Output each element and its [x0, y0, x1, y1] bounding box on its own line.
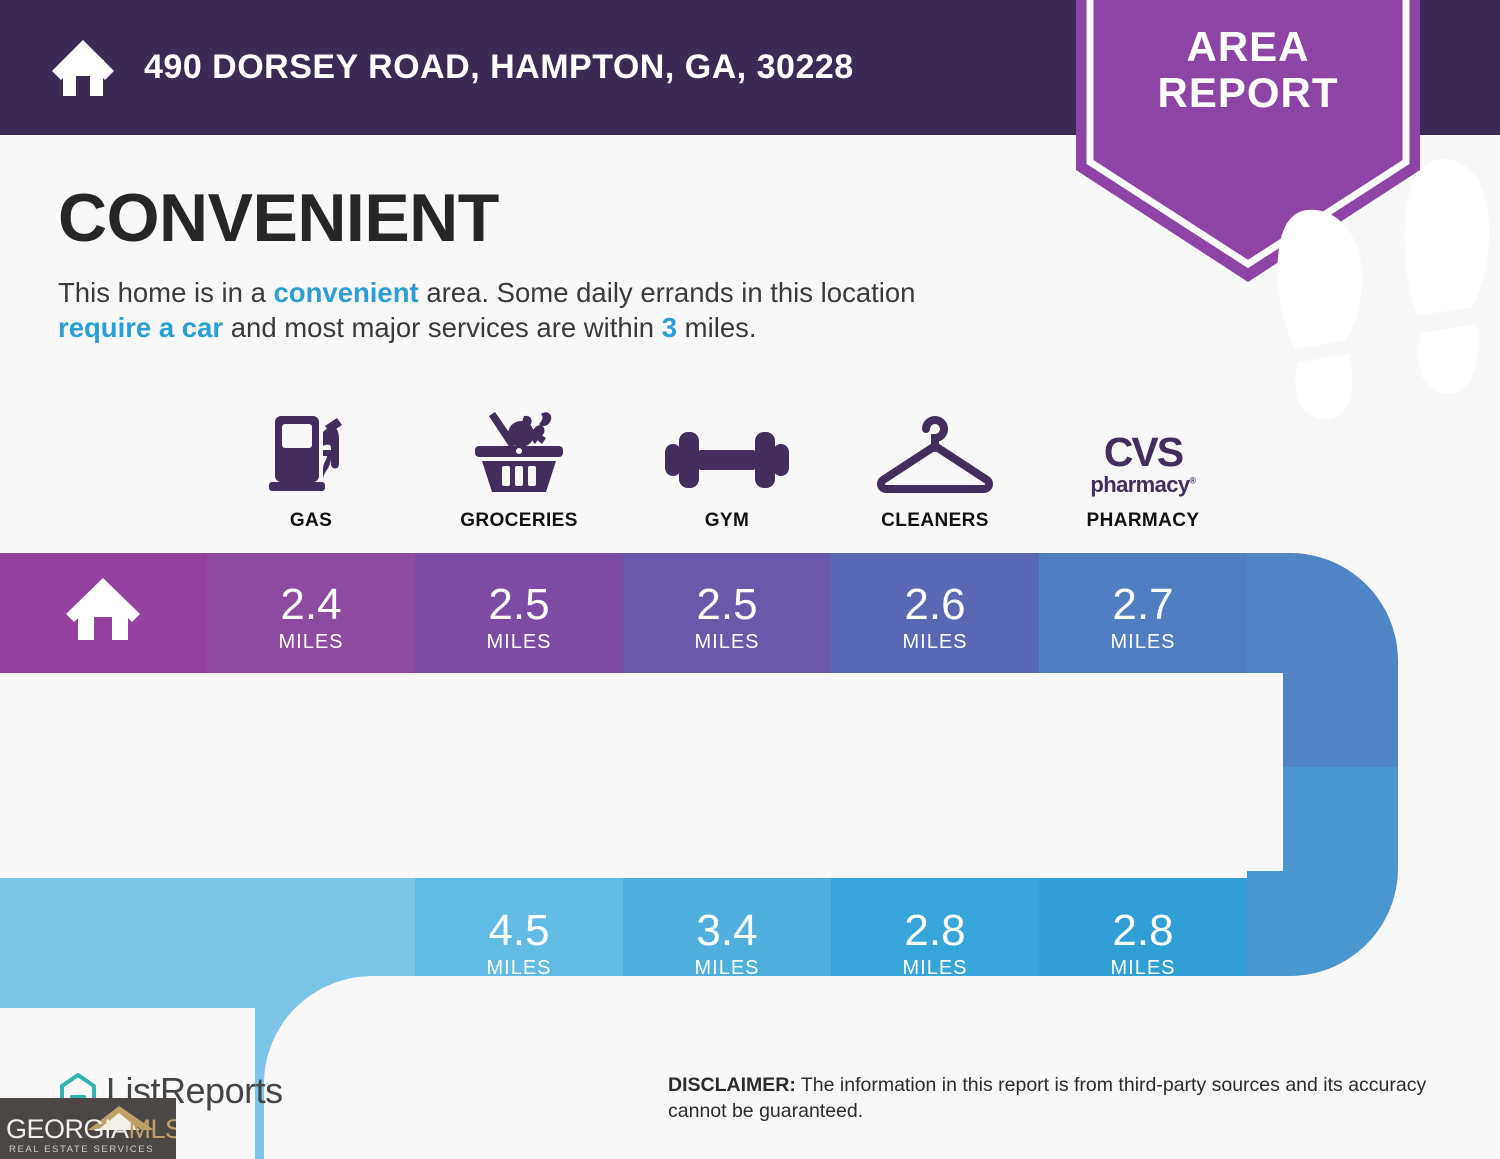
segment-gym — [623, 548, 831, 673]
area-report-badge: AREA REPORT — [1076, 0, 1420, 282]
segment-atm — [1039, 878, 1247, 1008]
mls-secondary: MLS — [129, 1114, 176, 1144]
mls-tagline: REAL ESTATE SERVICES — [9, 1144, 154, 1155]
summary-part-4: miles. — [677, 312, 756, 343]
georgia-mls-logo: GEORGIAMLS REAL ESTATE SERVICES — [0, 1098, 176, 1159]
page-title: CONVENIENT — [58, 182, 499, 254]
amenity-label: PHARMACY — [1087, 510, 1200, 532]
header-content: 490 DORSEY ROAD, HAMPTON, GA, 30228 — [50, 0, 854, 135]
segment-movie — [415, 878, 623, 1008]
summary-text: This home is in a convenient area. Some … — [58, 275, 998, 345]
amenity-label: GAS — [290, 510, 332, 532]
amenity-gym: GYM — [623, 404, 831, 532]
mls-wordmark: GEORGIAMLS — [6, 1116, 176, 1143]
home-icon — [50, 38, 116, 98]
gas-pump-icon — [265, 404, 357, 496]
summary-highlight-1: convenient — [274, 277, 419, 308]
summary-part-3: and most major services are within — [223, 312, 662, 343]
segment-cleaners — [831, 548, 1039, 673]
clothes-hanger-icon — [875, 404, 995, 496]
segment-coffee — [623, 878, 831, 1008]
summary-highlight-3: 3 — [662, 312, 677, 343]
amenity-label: CLEANERS — [881, 510, 989, 532]
footprints-icon — [1224, 142, 1500, 430]
amenity-pharmacy: CVS pharmacy® PHARMACY — [1039, 404, 1247, 532]
amenity-gas: GAS — [207, 404, 415, 532]
mls-primary: GEORGIA — [6, 1114, 129, 1144]
segment-groceries — [415, 548, 623, 673]
summary-part-1: This home is in a — [58, 277, 274, 308]
amenity-icons-row-1: GAS GROCERIES — [0, 404, 1500, 548]
cvs-pharmacy-logo: CVS pharmacy® — [1090, 404, 1195, 496]
summary-highlight-2: require a car — [58, 312, 223, 343]
home-icon — [64, 576, 142, 642]
header-address: 490 DORSEY ROAD, HAMPTON, GA, 30228 — [144, 48, 854, 87]
grocery-basket-icon — [469, 404, 569, 496]
dumbbell-icon — [665, 404, 789, 496]
amenity-label: GYM — [705, 510, 749, 532]
segment-pharmacy — [1039, 548, 1247, 673]
amenity-cleaners: CLEANERS — [831, 404, 1039, 532]
disclaimer-label: DISCLAIMER: — [668, 1074, 796, 1096]
distance-ribbon: 2.4 MILES 2.5 MILES 2.5 MILES 2.6 MILES … — [0, 548, 1500, 1159]
summary-part-2: area. Some daily errands in this locatio… — [419, 277, 916, 308]
area-report-page: 490 DORSEY ROAD, HAMPTON, GA, 30228 AREA… — [0, 0, 1500, 1159]
disclaimer: DISCLAIMER: The information in this repo… — [668, 1072, 1458, 1124]
segment-medical — [831, 878, 1039, 1008]
segment-gas — [207, 548, 415, 673]
amenity-label: GROCERIES — [460, 510, 578, 532]
amenity-groceries: GROCERIES — [415, 404, 623, 532]
